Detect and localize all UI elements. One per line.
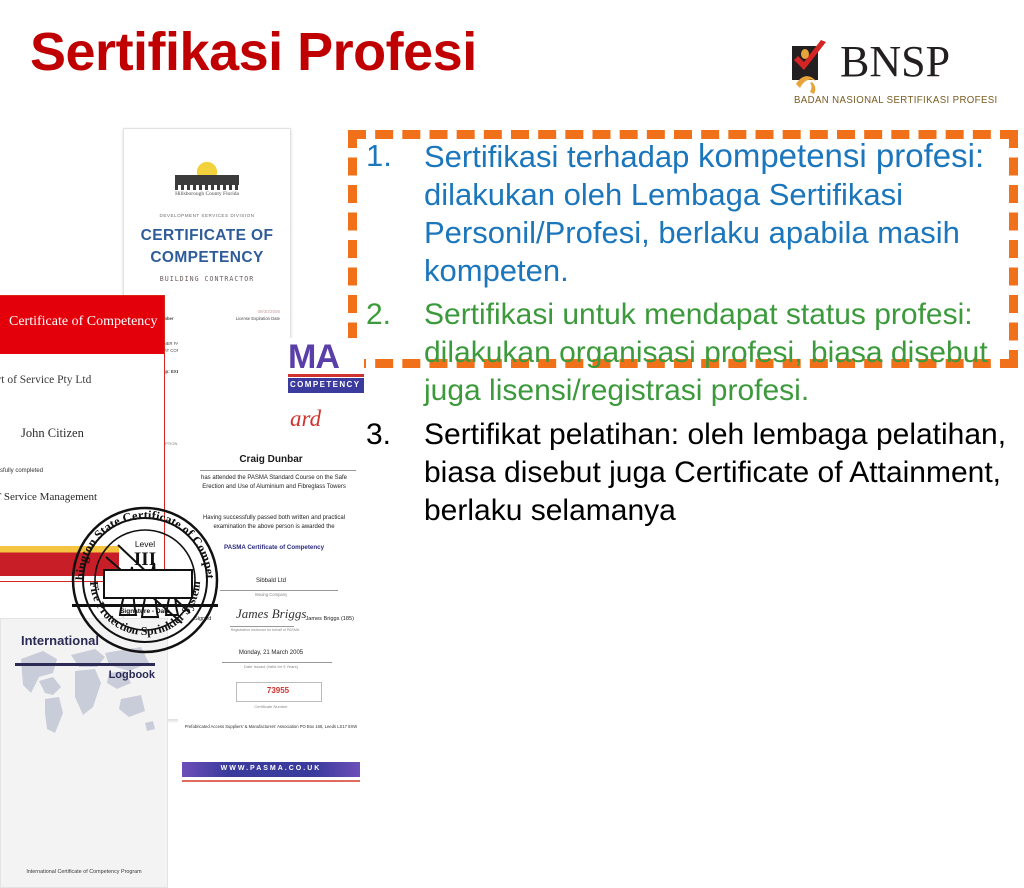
pasma-script-text: ard xyxy=(290,406,321,432)
pasma-certificate-number: 73955 xyxy=(236,686,320,695)
point1-lead: Sertifikasi terhadap xyxy=(424,139,698,174)
certificate-subtitle: BUILDING CONTRACTOR xyxy=(124,275,290,283)
pasma-signature-mark: James Briggs xyxy=(236,606,306,622)
certificate-collage-image: Hillsborough County Florida DEVELOPMENT … xyxy=(0,120,400,768)
stamp-baseline xyxy=(72,604,218,607)
pasma-attendance-text: has attended the PASMA Standard Course o… xyxy=(192,474,356,492)
pasma-url-rule xyxy=(182,780,360,782)
bnsp-wordmark: BNSP xyxy=(840,38,950,86)
completion-label: Has successfully completed xyxy=(0,468,43,474)
expiration-date-label: License Expiration Date xyxy=(236,316,280,321)
list-item-text: Sertifikasi terhadap kompetensi profesi:… xyxy=(424,137,1018,290)
list-item: 2. Sertifikasi untuk mendapat status pro… xyxy=(366,296,1018,410)
washington-state-stamp-icon: Washington State Certificate of Competen… xyxy=(70,505,220,655)
list-item: 3. Sertifikat pelatihan: oleh lembaga pe… xyxy=(366,416,1018,530)
pasma-logo-text: MA xyxy=(288,338,339,377)
pasma-signer-name: James Briggs (185) xyxy=(306,616,355,622)
pasma-date-label: Date Issued (Valid for 5 Years) xyxy=(178,664,364,669)
stamp-signature-box xyxy=(103,569,193,599)
points-list: 1. Sertifikasi terhadap kompetensi profe… xyxy=(366,137,1018,532)
pasma-name-rule xyxy=(200,470,356,471)
certificate-title-line1: CERTIFICATE OF xyxy=(124,227,290,245)
county-crest-icon xyxy=(124,145,290,190)
red-certificate-title: Certificate of Competency xyxy=(9,314,158,330)
page-title: Sertifikasi Profesi xyxy=(30,22,477,82)
pasma-recipient-name: Craig Dunbar xyxy=(178,454,364,465)
certificate-international-logbook: International Logbook International Cert… xyxy=(0,618,168,888)
pasma-competency-text: COMPETENCY xyxy=(290,380,360,389)
bnsp-logo: BNSP BADAN NASIONAL SERTIFIKASI PROFESI xyxy=(788,38,968,116)
point1-emphasis: kompetensi profesi: xyxy=(698,137,984,174)
pasma-company-rule xyxy=(220,590,338,591)
bnsp-subtitle: BADAN NASIONAL SERTIFIKASI PROFESI xyxy=(794,94,998,106)
issuing-organisation: The Art of Service Pty Ltd xyxy=(0,374,91,386)
pasma-certificate-number-label: Certificate Number xyxy=(178,704,364,709)
county-name: Hillsborough County Florida xyxy=(124,191,290,198)
pasma-association: Prefabricated Access Suppliers' & Manufa… xyxy=(178,724,364,730)
list-item-text: Sertifikat pelatihan: oleh lembaga pelat… xyxy=(424,416,1018,530)
point1-rest: dilakukan oleh Lembaga Sertifikasi Perso… xyxy=(424,177,960,288)
svg-text:III: III xyxy=(134,549,156,570)
stamp-signature-date-label: Signature - Date xyxy=(70,608,220,615)
pasma-signature-rule xyxy=(230,626,294,627)
logbook-footer: International Certificate of Competency … xyxy=(1,869,167,875)
list-item-text: Sertifikasi untuk mendapat status profes… xyxy=(424,296,1018,410)
certificate-title-line2: COMPETENCY xyxy=(124,249,290,267)
pasma-url: WWW.PASMA.CO.UK xyxy=(182,765,360,772)
expiration-date: 09/30/2006 xyxy=(257,309,280,314)
recipient-name: John Citizen xyxy=(21,426,84,441)
logbook-section-label: Logbook xyxy=(109,669,155,681)
bnsp-emblem-icon xyxy=(788,40,838,94)
pasma-date-rule xyxy=(222,662,332,663)
logbook-rule xyxy=(15,663,155,666)
course-name: IT Service Management xyxy=(0,491,97,503)
list-item: 1. Sertifikasi terhadap kompetensi profe… xyxy=(366,137,1018,290)
pasma-red-rule xyxy=(288,374,364,377)
pasma-signature-sublabel: Registration Instructor for behalf of PA… xyxy=(230,628,300,632)
svg-text:Level: Level xyxy=(135,539,155,549)
division-name: DEVELOPMENT SERVICES DIVISION xyxy=(124,213,290,218)
